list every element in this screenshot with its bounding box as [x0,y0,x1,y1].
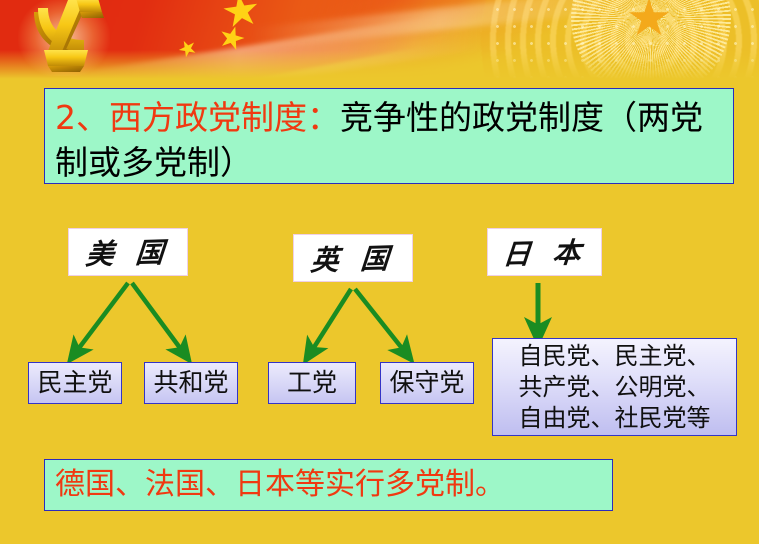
title-number-prefix: 2、西方政党制度： [55,98,340,137]
country-box-japan: 日 本 [487,228,602,276]
party-box-democratic: 民主党 [28,362,122,404]
footer-note-text: 德国、法国、日本等实行多党制。 [55,467,505,503]
party-label-conservative: 保守党 [389,368,464,398]
party-label-republican: 共和党 [153,368,228,398]
page-title: 2、西方政党制度：竞争性的政党制度（两党制或多党制） [55,95,725,185]
party-box-japan-parties: 自民党、民主党、 共产党、公明党、 自由党、社民党等 [492,338,737,436]
arrow-uk-to-labour [311,289,351,352]
country-box-usa: 美 国 [68,228,188,276]
arrow-us-to-republican [132,283,183,352]
party-box-conservative: 保守党 [380,362,474,404]
arrow-uk-to-conservative [355,289,405,352]
party-box-republican: 共和党 [144,362,238,404]
country-label-usa: 美 国 [84,231,171,273]
country-label-uk: 英 国 [309,237,396,279]
cpc-hammer-sickle-emblem [18,0,110,76]
slide-canvas: 2、西方政党制度：竞争性的政党制度（两党制或多党制） 美 国 英 国 日 本 民… [0,0,759,544]
banner-bottom-fade [0,50,759,84]
slide-title-box: 2、西方政党制度：竞争性的政党制度（两党制或多党制） [44,88,734,184]
arrow-us-to-democratic [76,283,128,352]
country-box-uk: 英 国 [293,234,413,282]
country-label-japan: 日 本 [501,231,588,273]
decorative-header-banner [0,0,759,84]
party-box-labour: 工党 [268,362,356,404]
party-label-democratic: 民主党 [37,368,112,398]
footer-note-box: 德国、法国、日本等实行多党制。 [44,459,613,511]
party-label-japan-parties: 自民党、民主党、 共产党、公明党、 自由党、社民党等 [519,341,711,434]
party-label-labour: 工党 [287,368,337,398]
